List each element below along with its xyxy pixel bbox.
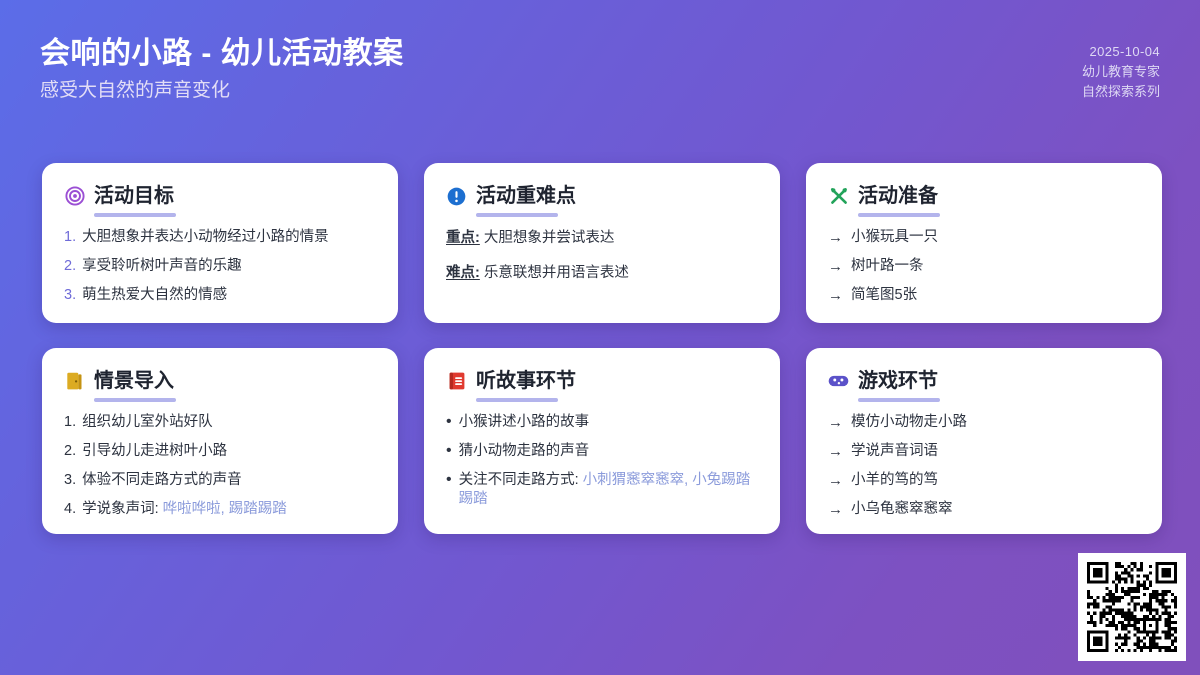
- list-marker: →: [828, 471, 843, 490]
- kv-key: 重点:: [446, 230, 480, 246]
- list-marker: •: [446, 471, 452, 489]
- card-header: 情景导入: [64, 368, 376, 394]
- list-item-text: 模仿小动物走小路: [851, 413, 1140, 432]
- list-item-base-text: 小乌龟窸窣窸窣: [851, 501, 953, 517]
- list-marker: 1.: [64, 228, 76, 247]
- card-preparation: 活动准备→小猴玩具一只→树叶路一条→简笔图5张: [806, 163, 1162, 323]
- list-item: 1.组织幼儿室外站好队: [64, 413, 376, 432]
- card-title: 活动目标: [94, 183, 174, 209]
- list-item: 3.萌生热爱大自然的情感: [64, 286, 376, 305]
- list-item-base-text: 模仿小动物走小路: [851, 414, 967, 430]
- list-item-base-text: 小猴玩具一只: [851, 229, 938, 245]
- list-item: →模仿小动物走小路: [828, 413, 1140, 432]
- list-marker: 1.: [64, 413, 76, 432]
- card-activity-goals: 活动目标1.大胆想象并表达小动物经过小路的情景2.享受聆听树叶声音的乐趣3.萌生…: [42, 163, 398, 323]
- card-title: 游戏环节: [858, 368, 938, 394]
- title-underline: [94, 398, 176, 402]
- list-marker: 2.: [64, 257, 76, 276]
- card-header: 游戏环节: [828, 368, 1140, 394]
- list-marker: •: [446, 413, 452, 431]
- list-item-base-text: 学说声音词语: [851, 443, 938, 459]
- card-grid: 活动目标1.大胆想象并表达小动物经过小路的情景2.享受聆听树叶声音的乐趣3.萌生…: [42, 163, 1158, 534]
- key-value-row: 重点: 大胆想象并尝试表达: [446, 228, 758, 248]
- title-underline: [476, 398, 558, 402]
- header-meta: 2025-10-04 幼儿教育专家 自然探索系列: [1082, 42, 1160, 102]
- list-item: →学说声音词语: [828, 442, 1140, 461]
- list-marker: 3.: [64, 471, 76, 490]
- card-title: 活动准备: [858, 183, 938, 209]
- list-item: →树叶路一条: [828, 257, 1140, 276]
- list-item: •小猴讲述小路的故事: [446, 413, 758, 432]
- kv-key: 难点:: [446, 265, 480, 281]
- list-item-base-text: 体验不同走路方式的声音: [82, 472, 242, 488]
- list-item: →小羊的笃的笃: [828, 471, 1140, 490]
- gamepad-icon: [828, 371, 849, 392]
- target-icon: [64, 186, 85, 207]
- card-game-session: 游戏环节→模仿小动物走小路→学说声音词语→小羊的笃的笃→小乌龟窸窣窸窣: [806, 348, 1162, 534]
- key-value-row: 难点: 乐意联想并用语言表述: [446, 263, 758, 283]
- list-item-text: 学说声音词语: [851, 442, 1140, 461]
- list-item-text: 小猴讲述小路的故事: [459, 413, 758, 432]
- list-item-text: 猜小动物走路的声音: [459, 442, 758, 461]
- list-item-base-text: 小羊的笃的笃: [851, 472, 938, 488]
- list-item-base-text: 小猴讲述小路的故事: [459, 414, 590, 430]
- list-item-text: 体验不同走路方式的声音: [82, 471, 376, 490]
- list-item-base-text: 简笔图5张: [851, 287, 917, 303]
- card-key-difficulties: 活动重难点重点: 大胆想象并尝试表达难点: 乐意联想并用语言表述: [424, 163, 780, 323]
- list-item-text: 享受聆听树叶声音的乐趣: [82, 257, 376, 276]
- highlighted-term: 哗啦哗啦, 踢踏踢踏: [163, 501, 287, 517]
- page-title: 会响的小路 - 幼儿活动教案: [40, 34, 404, 74]
- card-body: →小猴玩具一只→树叶路一条→简笔图5张: [828, 228, 1140, 305]
- list-marker: 4.: [64, 500, 76, 519]
- list-item: →小猴玩具一只: [828, 228, 1140, 247]
- list-item-base-text: 组织幼儿室外站好队: [82, 414, 213, 430]
- list-marker: •: [446, 442, 452, 460]
- slide-header: 会响的小路 - 幼儿活动教案 感受大自然的声音变化 2025-10-04 幼儿教…: [40, 34, 1160, 130]
- page-subtitle: 感受大自然的声音变化: [40, 76, 404, 106]
- list-marker: →: [828, 500, 843, 519]
- card-body: 1.大胆想象并表达小动物经过小路的情景2.享受聆听树叶声音的乐趣3.萌生热爱大自…: [64, 228, 376, 305]
- list-item-base-text: 猜小动物走路的声音: [459, 443, 590, 459]
- book-icon: [446, 371, 467, 392]
- title-underline: [858, 213, 940, 217]
- card-body: →模仿小动物走小路→学说声音词语→小羊的笃的笃→小乌龟窸窣窸窣: [828, 413, 1140, 519]
- list-item: •关注不同走路方式: 小刺猬窸窣窸窣, 小兔踢踏踢踏: [446, 471, 758, 509]
- list-marker: →: [828, 413, 843, 432]
- list-item: 1.大胆想象并表达小动物经过小路的情景: [64, 228, 376, 247]
- tools-icon: [828, 186, 849, 207]
- list-item: →小乌龟窸窣窸窣: [828, 500, 1140, 519]
- list-item-base-text: 学说象声词:: [82, 501, 163, 517]
- qr-code-image: [1087, 562, 1177, 652]
- list-marker: →: [828, 286, 843, 305]
- list-item: 3.体验不同走路方式的声音: [64, 471, 376, 490]
- list-item-base-text: 关注不同走路方式:: [459, 472, 583, 488]
- title-underline: [858, 398, 940, 402]
- list-item-text: 小乌龟窸窣窸窣: [851, 500, 1140, 519]
- list-item: →简笔图5张: [828, 286, 1140, 305]
- info-circle-icon: [446, 186, 467, 207]
- list-item-text: 树叶路一条: [851, 257, 1140, 276]
- card-header: 听故事环节: [446, 368, 758, 394]
- list-item-text: 大胆想象并表达小动物经过小路的情景: [82, 228, 376, 247]
- slide-root: 会响的小路 - 幼儿活动教案 感受大自然的声音变化 2025-10-04 幼儿教…: [0, 0, 1200, 675]
- list-item-text: 引导幼儿走进树叶小路: [82, 442, 376, 461]
- card-title: 活动重难点: [476, 183, 576, 209]
- list-item-text: 小猴玩具一只: [851, 228, 1140, 247]
- list-item-base-text: 萌生热爱大自然的情感: [82, 287, 227, 303]
- card-title: 听故事环节: [476, 368, 576, 394]
- list-item: 4.学说象声词: 哗啦哗啦, 踢踏踢踏: [64, 500, 376, 519]
- list-marker: →: [828, 228, 843, 247]
- list-marker: →: [828, 257, 843, 276]
- card-header: 活动重难点: [446, 183, 758, 209]
- list-marker: 2.: [64, 442, 76, 461]
- card-header: 活动准备: [828, 183, 1140, 209]
- title-underline: [94, 213, 176, 217]
- card-body: 1.组织幼儿室外站好队2.引导幼儿走进树叶小路3.体验不同走路方式的声音4.学说…: [64, 413, 376, 519]
- qr-code[interactable]: [1078, 553, 1186, 661]
- card-title: 情景导入: [94, 368, 174, 394]
- list-item-text: 关注不同走路方式: 小刺猬窸窣窸窣, 小兔踢踏踢踏: [459, 471, 758, 509]
- card-header: 活动目标: [64, 183, 376, 209]
- list-marker: 3.: [64, 286, 76, 305]
- card-scenario-intro: 情景导入1.组织幼儿室外站好队2.引导幼儿走进树叶小路3.体验不同走路方式的声音…: [42, 348, 398, 534]
- card-body: 重点: 大胆想象并尝试表达难点: 乐意联想并用语言表述: [446, 228, 758, 283]
- list-item-base-text: 大胆想象并表达小动物经过小路的情景: [82, 229, 329, 245]
- meta-date: 2025-10-04: [1082, 42, 1160, 62]
- list-item-text: 简笔图5张: [851, 286, 1140, 305]
- kv-value: 乐意联想并用语言表述: [484, 265, 629, 281]
- list-item-text: 萌生热爱大自然的情感: [82, 286, 376, 305]
- list-item: 2.享受聆听树叶声音的乐趣: [64, 257, 376, 276]
- list-item-base-text: 享受聆听树叶声音的乐趣: [82, 258, 242, 274]
- list-item-base-text: 引导幼儿走进树叶小路: [82, 443, 227, 459]
- header-left: 会响的小路 - 幼儿活动教案 感受大自然的声音变化: [40, 34, 404, 106]
- meta-author: 幼儿教育专家: [1082, 62, 1160, 82]
- list-item: •猜小动物走路的声音: [446, 442, 758, 461]
- card-body: •小猴讲述小路的故事•猜小动物走路的声音•关注不同走路方式: 小刺猬窸窣窸窣, …: [446, 413, 758, 509]
- meta-series: 自然探索系列: [1082, 82, 1160, 102]
- card-story-session: 听故事环节•小猴讲述小路的故事•猜小动物走路的声音•关注不同走路方式: 小刺猬窸…: [424, 348, 780, 534]
- kv-value: 大胆想象并尝试表达: [484, 230, 615, 246]
- list-item-text: 学说象声词: 哗啦哗啦, 踢踏踢踏: [82, 500, 376, 519]
- list-item-text: 组织幼儿室外站好队: [82, 413, 376, 432]
- list-marker: →: [828, 442, 843, 461]
- title-underline: [476, 213, 558, 217]
- list-item-text: 小羊的笃的笃: [851, 471, 1140, 490]
- door-icon: [64, 371, 85, 392]
- list-item: 2.引导幼儿走进树叶小路: [64, 442, 376, 461]
- list-item-base-text: 树叶路一条: [851, 258, 924, 274]
